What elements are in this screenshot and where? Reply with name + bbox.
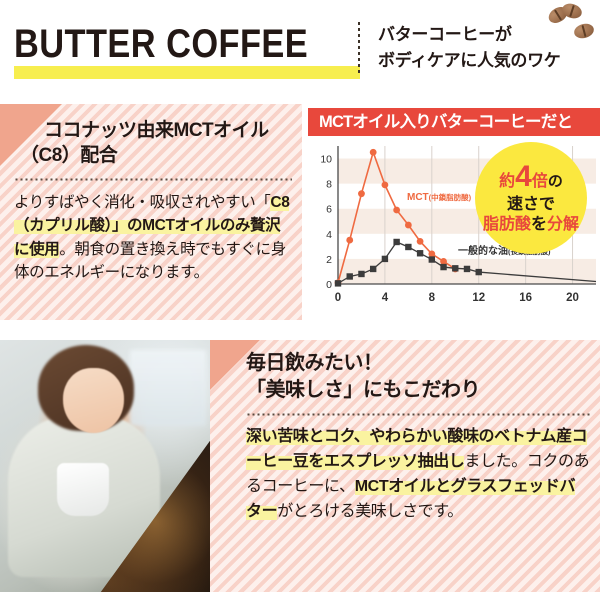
panel-dotted-divider: [246, 413, 590, 416]
svg-text:8: 8: [429, 292, 436, 304]
mct-panel-heading-line2: （C8）配合: [14, 143, 292, 168]
svg-text:10: 10: [320, 154, 332, 166]
svg-text:12: 12: [472, 292, 485, 304]
chart-plot-area: 0246810048121620MCT(中鎖脂肪酸)一般的な油(長鎖脂肪酸) 約…: [308, 136, 600, 312]
body-highlight-c8: C8: [270, 194, 289, 211]
badge-no: の: [548, 173, 563, 190]
page-title: BUTTER COFFEE: [14, 22, 308, 67]
taste-panel-heading-line1: 毎日飲みたい！: [246, 350, 590, 377]
badge-times: 倍: [532, 173, 548, 190]
title-highlight-bar: [14, 66, 360, 79]
body-conjunction: と: [435, 478, 451, 495]
mct-panel-heading-line1: ココナッツ由来MCTオイル: [14, 118, 292, 143]
body-text-post: がとろける美味しさです。: [277, 503, 463, 520]
svg-text:16: 16: [519, 292, 532, 304]
panel-dotted-divider: [14, 178, 292, 181]
svg-text:6: 6: [326, 204, 332, 216]
header-dotted-divider: [358, 22, 360, 76]
taste-panel: 毎日飲みたい！ 「美味しさ」にもこだわり 深い苦味とコク、やわらかい酸味のベトナ…: [210, 340, 600, 592]
badge-multiplier: 4: [515, 160, 532, 193]
badge-line2: 速さで: [507, 195, 555, 215]
svg-text:2: 2: [326, 254, 332, 266]
svg-text:8: 8: [326, 179, 332, 191]
badge-line3: 脂肪酸を分解: [483, 215, 579, 235]
taste-panel-body: 深い苦味とコク、やわらかい酸味のベトナム産コーヒー豆をエスプレッソ抽出しました。…: [246, 425, 590, 525]
svg-text:4: 4: [382, 292, 389, 304]
svg-text:20: 20: [566, 292, 579, 304]
badge-line1: 約4倍の: [499, 162, 563, 192]
coffee-beans-decoration: [540, 2, 600, 50]
body-text-pre: よりすばやく消化・吸収されやすい「: [14, 194, 270, 211]
mct-oil-panel: ココナッツ由来MCTオイル （C8）配合 よりすばやく消化・吸収されやすい「C8…: [0, 104, 302, 320]
speed-badge: 約4倍の 速さで 脂肪酸を分解: [475, 142, 587, 254]
header-subtitle-line2: ボディケアに人気のワケ: [378, 48, 600, 74]
badge-decompose: 分解: [547, 216, 579, 233]
mct-panel-body: よりすばやく消化・吸収されやすい「C8（カプリル酸）」のMCTオイルのみ贅沢に使…: [14, 191, 292, 285]
page-title-wrap: BUTTER COFFEE: [14, 22, 356, 67]
badge-fatty-acid: 脂肪酸: [483, 216, 531, 233]
svg-text:4: 4: [326, 229, 332, 241]
photo-mug-shape: [57, 463, 110, 516]
badge-particle: を: [531, 216, 547, 233]
woman-with-mug-photo: [0, 340, 210, 592]
taste-panel-heading-line2: 「美味しさ」にもこだわり: [246, 377, 590, 404]
photo-window-highlight: [130, 350, 206, 426]
body-highlight-mct-oil: MCTオイル: [355, 478, 435, 495]
coffee-bean-icon: [573, 22, 596, 41]
svg-text:0: 0: [326, 279, 332, 291]
body-highlight-use: 使用: [29, 241, 59, 258]
svg-text:MCT(中鎖脂肪酸): MCT(中鎖脂肪酸): [407, 192, 472, 203]
absorption-chart-card: MCTオイル入りバターコーヒーだと 0246810048121620MCT(中鎖…: [308, 108, 600, 312]
chart-title-bar: MCTオイル入りバターコーヒーだと: [308, 108, 600, 136]
photo-face-shape: [63, 368, 124, 434]
svg-text:0: 0: [335, 292, 341, 304]
badge-approx: 約: [499, 173, 515, 190]
page-header: BUTTER COFFEE バターコーヒーが ボディケアに人気のワケ: [0, 0, 600, 100]
infographic-page: BUTTER COFFEE バターコーヒーが ボディケアに人気のワケ ココナッツ…: [0, 0, 600, 600]
